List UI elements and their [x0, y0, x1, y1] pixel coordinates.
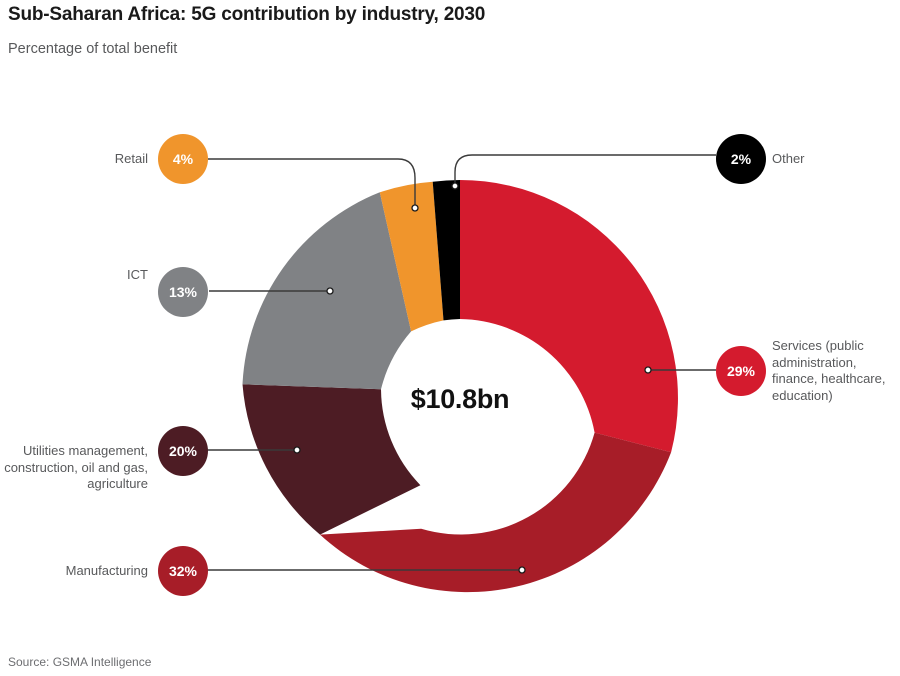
- callout-label-manufacturing: Manufacturing: [0, 563, 148, 580]
- badge-manufacturing-value: 32%: [169, 563, 198, 579]
- chart-container: Sub-Saharan Africa: 5G contribution by i…: [0, 0, 900, 676]
- slice-ict[interactable]: [243, 384, 421, 534]
- badge-ict-value: 20%: [169, 443, 198, 459]
- callout-label-ict: Utilities management, construction, oil …: [0, 443, 148, 493]
- badge-other[interactable]: 2%: [716, 134, 766, 184]
- anchor-dot-utilities: [327, 288, 333, 294]
- badge-ict[interactable]: 20%: [158, 426, 208, 476]
- badge-services-value: 29%: [727, 363, 756, 379]
- anchor-dot-retail: [412, 205, 418, 211]
- anchor-dot-other: [452, 183, 458, 189]
- badge-manufacturing[interactable]: 32%: [158, 546, 208, 596]
- badge-retail[interactable]: 4%: [158, 134, 208, 184]
- badge-utilities[interactable]: 13%: [158, 267, 208, 317]
- center-total-value: $10.8bn: [411, 384, 509, 414]
- callout-label-other: Other: [772, 151, 897, 168]
- anchor-dot-manufacturing: [519, 567, 525, 573]
- callout-label-utilities: ICT: [6, 267, 148, 284]
- source-note: Source: GSMA Intelligence: [8, 655, 151, 669]
- callout-label-retail: Retail: [0, 151, 148, 168]
- anchor-dot-ict: [294, 447, 300, 453]
- callout-label-services: Services (public administration, finance…: [772, 338, 896, 404]
- leader-line-other: [455, 155, 716, 186]
- badge-retail-value: 4%: [173, 151, 194, 167]
- badge-services[interactable]: 29%: [716, 346, 766, 396]
- badge-utilities-value: 13%: [169, 284, 198, 300]
- anchor-dot-services: [645, 367, 651, 373]
- badge-other-value: 2%: [731, 151, 752, 167]
